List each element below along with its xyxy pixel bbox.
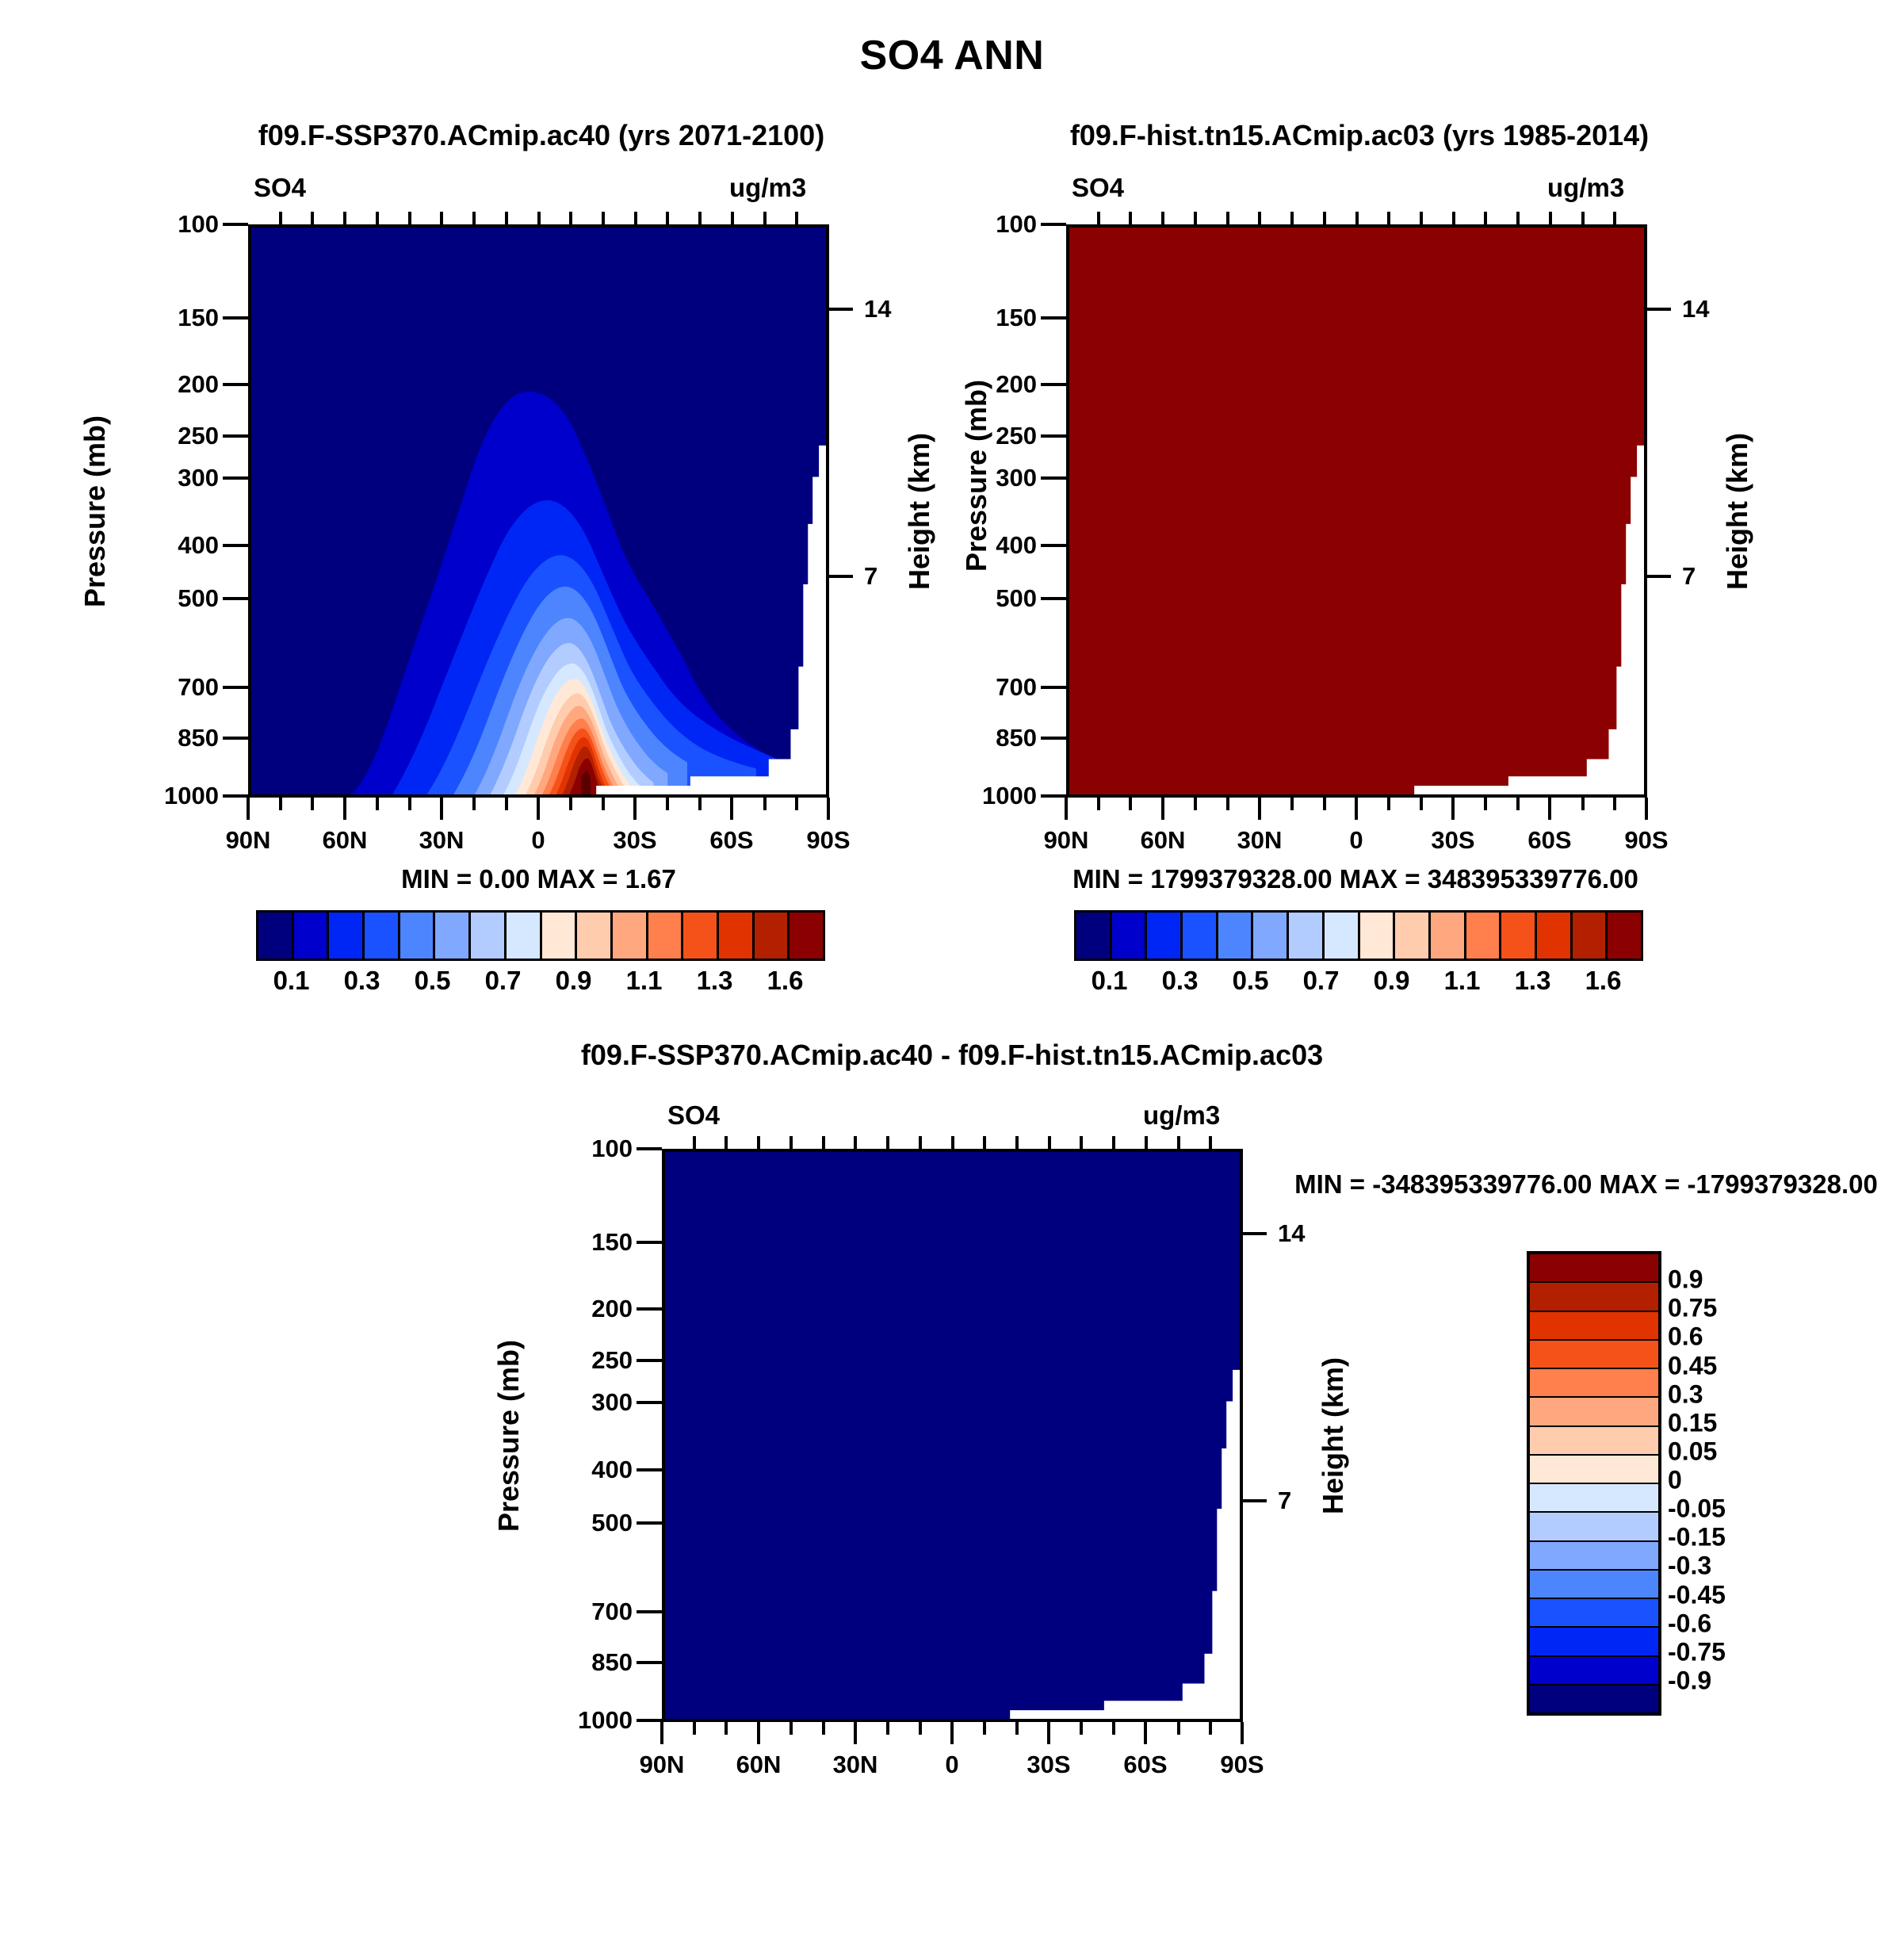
x-tick-mark: [1065, 798, 1068, 820]
x-minor-tick-mark-top: [1015, 1136, 1019, 1149]
colorbar-tick-label: -0.3: [1668, 1552, 1711, 1581]
y-tick-mark: [1041, 223, 1066, 226]
y-tick-mark: [1041, 316, 1066, 320]
x-tick-mark: [1144, 1722, 1147, 1744]
y-tick-mark: [223, 383, 248, 386]
x-minor-tick-mark: [1080, 1722, 1083, 1735]
x-tick-label: 30S: [1431, 826, 1474, 855]
x-minor-tick-mark: [1129, 798, 1132, 810]
x-minor-tick-mark: [1015, 1722, 1019, 1735]
x-minor-tick-mark-top: [1097, 212, 1100, 224]
x-tick-mark: [1645, 798, 1648, 820]
x-minor-tick-mark: [376, 798, 379, 810]
colorbar-swatch: [294, 913, 330, 959]
right-axis-title-control: Height (km): [1721, 433, 1754, 590]
colorbar-swatch: [613, 913, 648, 959]
colorbar-tick-label: 0.1: [273, 966, 310, 996]
colorbar-tick-label: -0.15: [1668, 1523, 1726, 1552]
right-axis-title-difference: Height (km): [1317, 1357, 1350, 1514]
x-tick-label: 60N: [1141, 826, 1186, 855]
y-tick-label: 300: [556, 1388, 633, 1417]
x-tick-label: 90N: [1044, 826, 1089, 855]
x-tick-mark: [730, 798, 733, 820]
colorbar-tick-label: 0.7: [1303, 966, 1340, 996]
y-tick-mark: [637, 1661, 662, 1664]
x-minor-tick-mark-top: [854, 1136, 857, 1149]
x-minor-tick-mark-top: [983, 1136, 986, 1149]
colorbar-tick-label: 1.1: [1444, 966, 1481, 996]
contour-field-difference: [665, 1152, 1240, 1719]
colorbar-swatch: [1530, 1484, 1658, 1513]
x-minor-tick-mark-top: [343, 212, 346, 224]
y-tick-label: 850: [556, 1648, 633, 1677]
x-minor-tick-mark: [311, 798, 314, 810]
x-tick-label: 30N: [1237, 826, 1283, 855]
x-tick-mark: [343, 798, 346, 820]
y-tick-mark: [223, 686, 248, 689]
x-minor-tick-mark: [666, 798, 669, 810]
colorbar-swatch: [648, 913, 684, 959]
x-minor-tick-mark-top: [822, 1136, 825, 1149]
x-minor-tick-mark-top: [1290, 212, 1294, 224]
x-tick-mark: [1161, 798, 1164, 820]
y-tick-label: 150: [556, 1228, 633, 1257]
x-tick-label: 0: [1349, 826, 1363, 855]
y-tick-mark: [637, 1521, 662, 1525]
x-tick-mark: [1451, 798, 1455, 820]
x-minor-tick-mark: [763, 798, 767, 810]
x-tick-label: 90S: [806, 826, 850, 855]
colorbar-tick-label: 0.6: [1668, 1322, 1703, 1352]
colorbar-swatch: [1466, 913, 1502, 959]
y-tick-label: 100: [556, 1135, 633, 1163]
colorbar-tick-label: 0.05: [1668, 1437, 1717, 1466]
x-minor-tick-mark-top: [666, 212, 669, 224]
colorbar-swatch: [1325, 913, 1360, 959]
y-tick-label: 200: [143, 370, 219, 399]
colorbar-swatch: [471, 913, 507, 959]
colorbar-swatch: [1530, 1599, 1658, 1628]
y-tick-mark: [223, 597, 248, 600]
y-tick-mark: [637, 1147, 662, 1150]
x-minor-tick-mark-top: [569, 212, 572, 224]
x-tick-mark: [1241, 1722, 1244, 1744]
x-tick-label: 30S: [613, 826, 656, 855]
y-tick-label: 100: [143, 210, 219, 239]
colorbar-main-test[interactable]: [256, 910, 825, 961]
y-tick-label: 400: [556, 1456, 633, 1484]
x-tick-label: 60S: [709, 826, 753, 855]
x-minor-tick-mark-top: [505, 212, 508, 224]
colorbar-tick-label: 0.9: [1374, 966, 1410, 996]
x-minor-tick-mark-top: [537, 212, 541, 224]
x-minor-tick-mark-top: [1420, 212, 1423, 224]
y-tick-mark: [1041, 597, 1066, 600]
x-tick-label: 90S: [1624, 826, 1668, 855]
x-minor-tick-mark-top: [408, 212, 411, 224]
y-tick-mark: [637, 1719, 662, 1722]
y-tick-label: 250: [556, 1346, 633, 1375]
x-minor-tick-mark: [1194, 798, 1197, 810]
panel-unit-label-difference: ug/m3: [1143, 1100, 1220, 1131]
y-tick-label: 150: [961, 304, 1037, 332]
colorbar-swatch: [1530, 1456, 1658, 1484]
colorbar-swatch: [542, 913, 578, 959]
colorbar-tick-label: 0: [1668, 1466, 1682, 1495]
colorbar-swatch: [1253, 913, 1289, 959]
x-tick-label: 0: [531, 826, 545, 855]
panel-var-label-difference: SO4: [667, 1100, 720, 1131]
colorbar-tick-label: -0.6: [1668, 1609, 1711, 1638]
colorbar-tick-label: -0.75: [1668, 1637, 1726, 1667]
colorbar-tick-label: 0.9: [556, 966, 592, 996]
x-minor-tick-mark-top: [1129, 212, 1132, 224]
x-minor-tick-mark: [822, 1722, 825, 1735]
y-tick-label: 300: [143, 464, 219, 492]
panel-title-test: f09.F-SSP370.ACmip.ac40 (yrs 2071-2100): [248, 119, 835, 152]
x-tick-label: 30N: [419, 826, 465, 855]
y-tick-label: 850: [961, 724, 1037, 752]
x-minor-tick-mark: [919, 1722, 922, 1735]
colorbar-tick-label: 1.3: [1515, 966, 1551, 996]
colorbar-tick-label: 0.1: [1092, 966, 1128, 996]
y-tick-mark: [1041, 476, 1066, 480]
x-minor-tick-mark-top: [1452, 212, 1455, 224]
y-tick-label: 250: [143, 422, 219, 450]
x-minor-tick-mark-top: [634, 212, 637, 224]
x-minor-tick-mark-top: [1549, 212, 1552, 224]
right-tick-mark: [1647, 575, 1671, 578]
x-minor-tick-mark-top: [757, 1136, 760, 1149]
x-minor-tick-mark-top: [1323, 212, 1326, 224]
colorbar-main-test-labels: 0.10.30.50.70.91.11.31.6: [256, 966, 820, 1001]
x-minor-tick-mark-top: [1080, 1136, 1083, 1149]
x-minor-tick-mark-top: [376, 212, 379, 224]
colorbar-swatch: [1573, 913, 1608, 959]
x-minor-tick-mark-top: [1258, 212, 1261, 224]
x-minor-tick-mark-top: [919, 1136, 922, 1149]
colorbar-tick-label: 0.5: [1233, 966, 1269, 996]
x-minor-tick-mark: [795, 798, 798, 810]
x-minor-tick-mark: [693, 1722, 696, 1735]
x-minor-tick-mark: [1112, 1722, 1115, 1735]
y-tick-label: 400: [143, 531, 219, 560]
x-tick-mark: [1047, 1722, 1050, 1744]
x-minor-tick-mark-top: [1484, 212, 1487, 224]
colorbar-tick-label: 0.45: [1668, 1351, 1717, 1380]
colorbar-swatch: [1530, 1254, 1658, 1283]
y-tick-mark: [223, 476, 248, 480]
panel-var-label-test: SO4: [254, 173, 306, 203]
colorbar-main-control[interactable]: [1074, 910, 1643, 961]
colorbar-swatch: [329, 913, 365, 959]
x-tick-label: 0: [945, 1751, 958, 1779]
x-tick-mark: [633, 798, 637, 820]
y-tick-label: 700: [556, 1598, 633, 1626]
y-tick-mark: [1041, 383, 1066, 386]
x-tick-mark: [1355, 798, 1358, 820]
colorbar-tick-label: 1.3: [697, 966, 733, 996]
x-minor-tick-mark: [725, 1722, 728, 1735]
x-tick-label: 30N: [833, 1751, 878, 1779]
y-tick-mark: [1041, 794, 1066, 798]
y-tick-mark: [637, 1359, 662, 1362]
plot-panel-difference[interactable]: [662, 1149, 1243, 1722]
x-minor-tick-mark: [279, 798, 282, 810]
x-minor-tick-mark: [698, 798, 702, 810]
colorbar-tick-label: 0.75: [1668, 1294, 1717, 1323]
right-tick-label: 7: [864, 562, 877, 591]
x-tick-mark: [660, 1722, 663, 1744]
y-tick-mark: [1041, 686, 1066, 689]
x-minor-tick-mark: [790, 1722, 793, 1735]
y-tick-mark: [223, 737, 248, 740]
colorbar-swatch: [1076, 913, 1112, 959]
x-tick-label: 60N: [736, 1751, 782, 1779]
y-tick-label: 1000: [125, 782, 219, 810]
x-minor-tick-mark: [1290, 798, 1294, 810]
y-tick-label: 850: [143, 724, 219, 752]
colorbar-tick-label: -0.45: [1668, 1580, 1726, 1609]
colorbar-swatch: [1530, 1427, 1658, 1456]
colorbar-tick-label: 0.5: [415, 966, 451, 996]
x-minor-tick-mark: [1226, 798, 1229, 810]
x-minor-tick-mark-top: [279, 212, 282, 224]
y-tick-mark: [637, 1307, 662, 1311]
y-tick-label: 100: [961, 210, 1037, 239]
colorbar-tick-label: -0.05: [1668, 1494, 1726, 1524]
y-tick-mark: [1041, 737, 1066, 740]
x-minor-tick-mark-top: [790, 1136, 793, 1149]
x-minor-tick-mark: [1209, 1722, 1212, 1735]
y-tick-mark: [223, 544, 248, 547]
colorbar-swatch: [755, 913, 790, 959]
panel-title-difference: f09.F-SSP370.ACmip.ac40 - f09.F-hist.tn1…: [476, 1039, 1428, 1072]
colorbar-tick-label: -0.9: [1668, 1666, 1711, 1695]
y-tick-label: 1000: [943, 782, 1037, 810]
y-tick-mark: [223, 434, 248, 438]
x-tick-mark: [247, 798, 250, 820]
colorbar-swatch: [1530, 1657, 1658, 1686]
y-tick-label: 700: [143, 673, 219, 702]
x-minor-tick-mark: [408, 798, 411, 810]
right-tick-mark: [1243, 1232, 1267, 1235]
y-tick-mark: [1041, 544, 1066, 547]
x-minor-tick-mark-top: [1161, 212, 1164, 224]
x-tick-label: 90N: [640, 1751, 685, 1779]
y-tick-label: 150: [143, 304, 219, 332]
colorbar-swatch: [1431, 913, 1466, 959]
colorbar-main-control-labels: 0.10.30.50.70.91.11.31.6: [1074, 966, 1638, 1001]
y-tick-mark: [637, 1468, 662, 1471]
plot-panel-test[interactable]: [248, 224, 829, 798]
right-tick-label: 14: [864, 295, 891, 323]
y-tick-label: 200: [556, 1295, 633, 1323]
x-minor-tick-mark: [1581, 798, 1585, 810]
x-minor-tick-mark-top: [1048, 1136, 1051, 1149]
contour-field-test: [251, 228, 826, 794]
colorbar-swatch: [400, 913, 436, 959]
minmax-difference: MIN = -348395339776.00 MAX = -1799379328…: [1268, 1169, 1904, 1200]
x-minor-tick-mark-top: [951, 1136, 954, 1149]
y-tick-mark: [1041, 434, 1066, 438]
x-tick-label: 60S: [1123, 1751, 1167, 1779]
page-title: SO4 ANN: [0, 32, 1904, 79]
x-minor-tick-mark: [472, 798, 476, 810]
colorbar-swatch: [1218, 913, 1254, 959]
x-minor-tick-mark-top: [886, 1136, 889, 1149]
x-minor-tick-mark-top: [698, 212, 702, 224]
colorbar-tick-label: 1.6: [767, 966, 804, 996]
colorbar-swatch: [1530, 1571, 1658, 1599]
colorbar-swatch: [258, 913, 294, 959]
colorbar-swatch: [1530, 1513, 1658, 1541]
x-minor-tick-mark: [1097, 798, 1100, 810]
colorbar-tick-label: 0.3: [344, 966, 380, 996]
x-tick-label: 90S: [1220, 1751, 1264, 1779]
colorbar-swatch: [683, 913, 719, 959]
panel-title-control: f09.F-hist.tn15.ACmip.ac03 (yrs 1985-201…: [1066, 119, 1653, 152]
right-tick-mark: [829, 575, 853, 578]
y-tick-label: 700: [961, 673, 1037, 702]
x-tick-label: 60N: [323, 826, 368, 855]
colorbar-tick-label: 1.1: [626, 966, 663, 996]
x-minor-tick-mark-top: [725, 1136, 728, 1149]
x-minor-tick-mark-top: [693, 1136, 696, 1149]
x-minor-tick-mark-top: [602, 212, 605, 224]
x-minor-tick-mark-top: [1355, 212, 1359, 224]
y-tick-mark: [637, 1610, 662, 1613]
colorbar-swatch: [1147, 913, 1183, 959]
colorbar-swatch: [577, 913, 613, 959]
panel-unit-label-test: ug/m3: [729, 173, 806, 203]
y-tick-label: 500: [556, 1509, 633, 1537]
right-tick-label: 14: [1682, 295, 1709, 323]
y-tick-label: 500: [143, 584, 219, 613]
right-tick-label: 7: [1682, 562, 1696, 591]
colorbar-swatch: [1530, 1628, 1658, 1656]
colorbar-tick-label: 0.3: [1668, 1380, 1703, 1409]
colorbar-difference-labels: 0.90.750.60.450.30.150.050-0.05-0.15-0.3…: [1668, 1251, 1810, 1709]
x-minor-tick-mark-top: [1226, 212, 1229, 224]
y-tick-mark: [223, 223, 248, 226]
x-minor-tick-mark-top: [763, 212, 767, 224]
x-minor-tick-mark: [886, 1722, 889, 1735]
colorbar-swatch: [1395, 913, 1431, 959]
contour-field-control: [1069, 228, 1644, 794]
x-minor-tick-mark: [1420, 798, 1423, 810]
x-minor-tick-mark-top: [1581, 212, 1585, 224]
y-axis-title-control: Pressure (mb): [960, 380, 993, 572]
x-minor-tick-mark-top: [1209, 1136, 1212, 1149]
x-minor-tick-mark-top: [440, 212, 443, 224]
x-minor-tick-mark-top: [1194, 212, 1197, 224]
colorbar-tick-label: 1.6: [1585, 966, 1622, 996]
x-minor-tick-mark-top: [1516, 212, 1520, 224]
colorbar-swatch: [1530, 1398, 1658, 1426]
x-tick-mark: [827, 798, 830, 820]
x-tick-mark: [1548, 798, 1551, 820]
colorbar-swatch: [1530, 1341, 1658, 1369]
y-tick-label: 500: [961, 584, 1037, 613]
colorbar-tick-label: 0.7: [485, 966, 522, 996]
x-tick-label: 60S: [1527, 826, 1571, 855]
colorbar-swatch: [1360, 913, 1396, 959]
minmax-test: MIN = 0.00 MAX = 1.67: [248, 864, 829, 894]
y-tick-mark: [637, 1241, 662, 1244]
colorbar-swatch: [1112, 913, 1148, 959]
right-tick-label: 14: [1278, 1219, 1305, 1248]
colorbar-swatch: [1530, 1542, 1658, 1571]
colorbar-swatch: [1530, 1686, 1658, 1712]
x-minor-tick-mark-top: [1145, 1136, 1148, 1149]
colorbar-tick-label: 0.3: [1162, 966, 1199, 996]
y-tick-label: 1000: [539, 1706, 633, 1735]
colorbar-swatch: [1530, 1369, 1658, 1398]
right-tick-mark: [1243, 1499, 1267, 1502]
colorbar-swatch: [719, 913, 755, 959]
y-axis-title-test: Pressure (mb): [78, 415, 112, 607]
right-tick-mark: [1647, 308, 1671, 311]
colorbar-swatch: [1289, 913, 1325, 959]
colorbar-swatch: [1530, 1312, 1658, 1341]
plot-panel-control[interactable]: [1066, 224, 1647, 798]
x-minor-tick-mark-top: [472, 212, 476, 224]
x-minor-tick-mark-top: [795, 212, 798, 224]
x-minor-tick-mark: [1177, 1722, 1180, 1735]
x-tick-label: 30S: [1027, 1751, 1070, 1779]
x-minor-tick-mark-top: [1112, 1136, 1115, 1149]
colorbar-swatch: [1501, 913, 1537, 959]
y-tick-mark: [223, 794, 248, 798]
y-tick-mark: [637, 1401, 662, 1404]
colorbar-swatch: [1608, 913, 1641, 959]
y-axis-title-difference: Pressure (mb): [492, 1340, 526, 1532]
right-axis-title-test: Height (km): [903, 433, 936, 590]
x-minor-tick-mark: [569, 798, 572, 810]
x-tick-mark: [440, 798, 443, 820]
x-tick-mark: [757, 1722, 760, 1744]
x-minor-tick-mark: [1613, 798, 1616, 810]
x-minor-tick-mark: [1516, 798, 1520, 810]
x-minor-tick-mark: [1387, 798, 1390, 810]
x-minor-tick-mark: [602, 798, 605, 810]
colorbar-tick-label: 0.15: [1668, 1408, 1717, 1437]
x-minor-tick-mark: [1323, 798, 1326, 810]
x-minor-tick-mark-top: [1387, 212, 1390, 224]
panel-var-label-control: SO4: [1072, 173, 1124, 203]
x-tick-mark: [950, 1722, 954, 1744]
panel-unit-label-control: ug/m3: [1547, 173, 1624, 203]
minmax-control: MIN = 1799379328.00 MAX = 348395339776.0…: [1038, 864, 1673, 894]
x-tick-mark: [537, 798, 540, 820]
x-minor-tick-mark-top: [1177, 1136, 1180, 1149]
colorbar-swatch: [1183, 913, 1218, 959]
x-minor-tick-mark-top: [1613, 212, 1616, 224]
colorbar-swatch: [435, 913, 471, 959]
x-minor-tick-mark-top: [311, 212, 314, 224]
x-minor-tick-mark: [505, 798, 508, 810]
x-minor-tick-mark: [983, 1722, 986, 1735]
colorbar-swatch: [1537, 913, 1573, 959]
y-tick-mark: [223, 316, 248, 320]
colorbar-swatch: [790, 913, 823, 959]
colorbar-difference[interactable]: [1527, 1251, 1661, 1716]
right-tick-label: 7: [1278, 1487, 1291, 1515]
x-minor-tick-mark-top: [731, 212, 734, 224]
colorbar-tick-label: 0.9: [1668, 1265, 1703, 1295]
colorbar-swatch: [365, 913, 400, 959]
